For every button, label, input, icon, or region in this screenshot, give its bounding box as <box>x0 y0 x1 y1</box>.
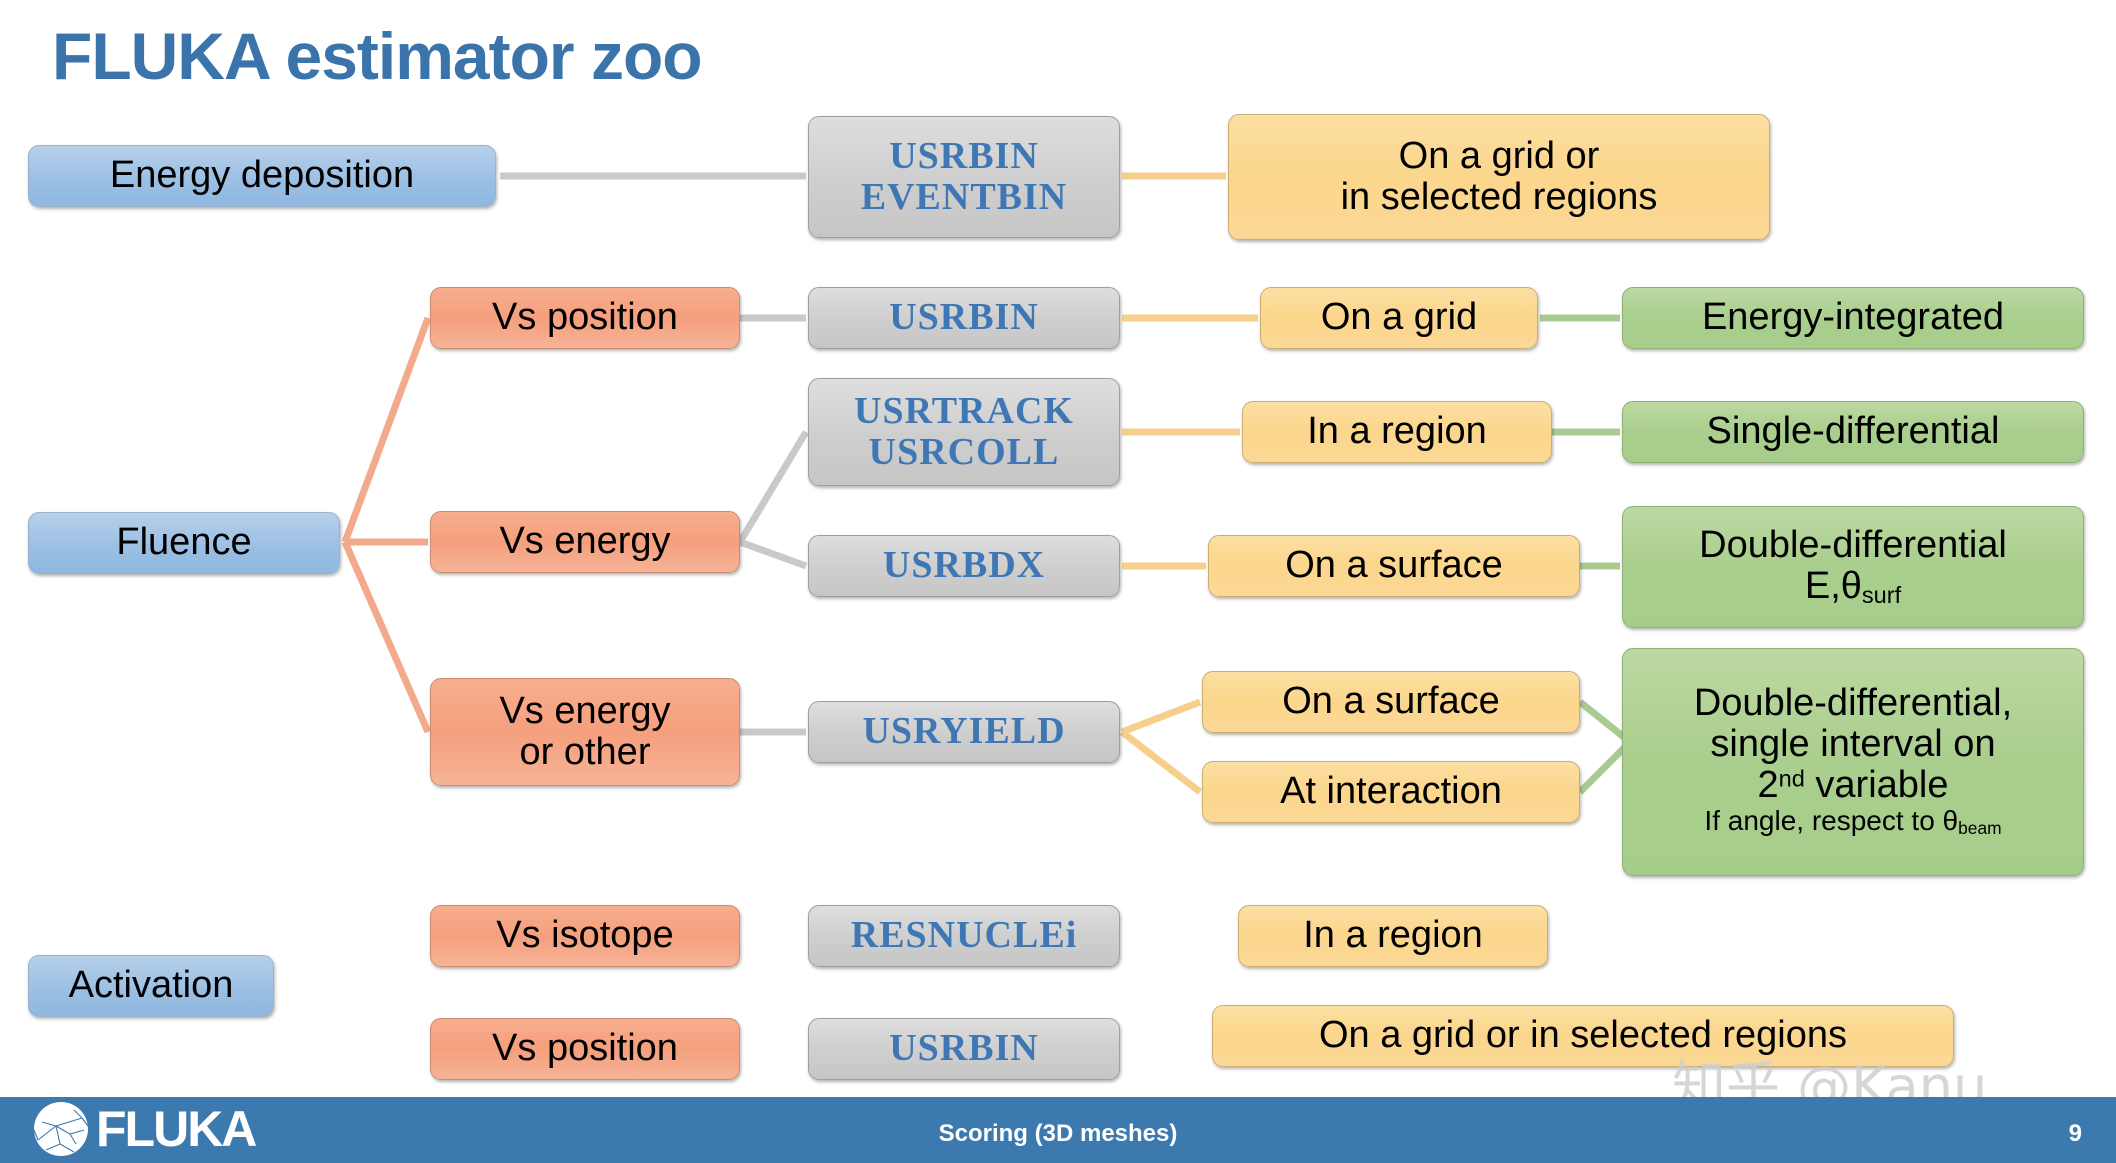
node-label: On a grid <box>1321 297 1477 338</box>
node-label: USRBIN <box>889 1028 1039 1069</box>
node-label: At interaction <box>1280 771 1502 812</box>
node-label-line3-rest: variable <box>1805 764 1949 806</box>
node-usrtrack-usrcoll[interactable]: USRTRACK USRCOLL <box>808 378 1120 486</box>
node-on-a-grid-or-in-selected-regions[interactable]: On a grid or in selected regions <box>1228 114 1770 240</box>
node-label: Vs position <box>492 297 678 338</box>
node-vs-position-activation[interactable]: Vs position <box>430 1018 740 1080</box>
node-in-a-region-resnuclei[interactable]: In a region <box>1238 905 1548 967</box>
node-label-line2: USRCOLL <box>869 432 1060 473</box>
node-label-line3-number: 2 <box>1758 764 1779 806</box>
node-label: USRYIELD <box>862 711 1065 752</box>
node-label: On a surface <box>1285 545 1503 586</box>
slide-canvas: FLUKA estimator zoo Energy dep <box>0 0 2116 1163</box>
node-label: On a grid or in selected regions <box>1319 1015 1847 1056</box>
node-fluence[interactable]: Fluence <box>28 512 340 574</box>
node-energy-deposition[interactable]: Energy deposition <box>28 145 496 207</box>
node-label: In a region <box>1303 915 1483 956</box>
node-label-line2: in selected regions <box>1341 177 1658 218</box>
node-on-a-surface-usrbdx[interactable]: On a surface <box>1208 535 1580 597</box>
node-label-note-text: If angle, respect to θ <box>1704 805 1958 836</box>
node-usryield[interactable]: USRYIELD <box>808 701 1120 763</box>
node-label: Vs position <box>492 1028 678 1069</box>
node-label: USRBDX <box>883 545 1045 586</box>
node-label-line1: USRBIN <box>889 136 1039 177</box>
node-on-a-surface-usryield[interactable]: On a surface <box>1202 671 1580 733</box>
node-vs-energy-fluence[interactable]: Vs energy <box>430 511 740 573</box>
node-label-line1: Double-differential <box>1699 525 2007 566</box>
node-double-differential-e-theta-surf[interactable]: Double-differential E,θsurf <box>1622 506 2084 628</box>
node-label-line2: single interval on <box>1710 724 1995 765</box>
node-single-differential[interactable]: Single-differential <box>1622 401 2084 463</box>
page-title: FLUKA estimator zoo <box>52 18 702 94</box>
node-on-a-grid[interactable]: On a grid <box>1260 287 1538 349</box>
node-label-line2: EVENTBIN <box>861 177 1068 218</box>
node-vs-position-fluence[interactable]: Vs position <box>430 287 740 349</box>
node-label: USRBIN <box>889 297 1039 338</box>
node-usrbin-activation[interactable]: USRBIN <box>808 1018 1120 1080</box>
node-label-line1: USRTRACK <box>854 391 1074 432</box>
node-energy-integrated[interactable]: Energy-integrated <box>1622 287 2084 349</box>
node-label-line1: Double-differential, <box>1694 683 2012 724</box>
node-label-note: If angle, respect to θbeam <box>1704 806 2001 837</box>
node-double-differential-single-interval[interactable]: Double-differential, single interval on … <box>1622 648 2084 876</box>
node-label: In a region <box>1307 411 1487 452</box>
node-label: Energy deposition <box>110 155 414 196</box>
node-vs-isotope[interactable]: Vs isotope <box>430 905 740 967</box>
node-usrbin-eventbin[interactable]: USRBIN EVENTBIN <box>808 116 1120 238</box>
node-label: RESNUCLEi <box>851 915 1078 956</box>
node-label-line3-ordinal: nd <box>1779 765 1805 791</box>
node-label: Single-differential <box>1707 411 2000 452</box>
node-label: Fluence <box>116 522 251 563</box>
node-on-a-grid-or-in-selected-regions-activation[interactable]: On a grid or in selected regions <box>1212 1005 1954 1067</box>
node-label: Vs isotope <box>496 915 673 956</box>
node-resnuclei[interactable]: RESNUCLEi <box>808 905 1120 967</box>
node-label: On a surface <box>1282 681 1500 722</box>
footer-title: Scoring (3D meshes) <box>0 1120 2116 1148</box>
node-label-line2-subscript: surf <box>1862 582 1901 608</box>
node-usrbin-fluence[interactable]: USRBIN <box>808 287 1120 349</box>
node-label: Energy-integrated <box>1702 297 2004 338</box>
node-label-line3: 2nd variable <box>1758 765 1949 806</box>
node-label-note-subscript: beam <box>1958 818 2001 838</box>
footer-page-number: 9 <box>2069 1120 2082 1148</box>
node-usrbdx[interactable]: USRBDX <box>808 535 1120 597</box>
node-label-line2-main: E,θ <box>1805 565 1862 607</box>
node-label-line1: Vs energy <box>499 691 670 732</box>
node-in-a-region-usrtrack[interactable]: In a region <box>1242 401 1552 463</box>
node-label-line2: E,θsurf <box>1805 566 1901 609</box>
node-label-line1: On a grid or <box>1399 136 1600 177</box>
node-label: Vs energy <box>499 521 670 562</box>
node-activation[interactable]: Activation <box>28 955 274 1017</box>
node-label: Activation <box>69 965 234 1006</box>
node-label-line2: or other <box>520 732 651 773</box>
node-at-interaction[interactable]: At interaction <box>1202 761 1580 823</box>
node-vs-energy-or-other[interactable]: Vs energy or other <box>430 678 740 786</box>
